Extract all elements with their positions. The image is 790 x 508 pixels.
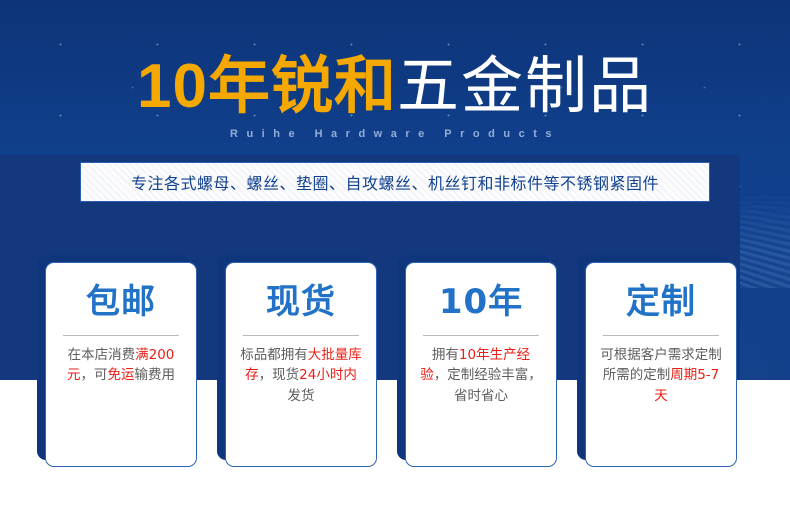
feature-card[interactable]: 包邮在本店消费满200元，可免运输费用 [45, 262, 197, 467]
card-description-text: 在本店消费 [68, 347, 136, 363]
card-description: 拥有10年生产经验，定制经验丰富，省时省心 [419, 345, 543, 407]
tagline-text: 专注各式螺母、螺丝、垫圈、自攻螺丝、机丝钉和非标件等不锈钢紧固件 [131, 170, 659, 194]
headline-gold-text: 10年锐和 [137, 52, 397, 121]
card-description: 可根据客户需求定制所需的定制周期5-7天 [599, 345, 723, 407]
feature-card[interactable]: 现货标品都拥有大批量库存，现货24小时内发货 [225, 262, 377, 467]
card-description-text: 输费用 [135, 367, 176, 383]
card-description-highlight: 24小时内 [299, 367, 357, 383]
feature-card[interactable]: 10年拥有10年生产经验，定制经验丰富，省时省心 [405, 262, 557, 467]
card-description: 在本店消费满200元，可免运输费用 [59, 345, 183, 386]
card-divider [603, 335, 719, 336]
headline-subtitle: Ruihe Hardware Products [0, 128, 790, 140]
card-divider [243, 335, 359, 336]
promo-banner: 10年锐和五金制品 Ruihe Hardware Products 专注各式螺母… [0, 0, 790, 508]
tagline-banner: 专注各式螺母、螺丝、垫圈、自攻螺丝、机丝钉和非标件等不锈钢紧固件 [80, 162, 710, 202]
card-description-text: ，现货 [259, 367, 300, 383]
card-description-text: 发货 [288, 388, 315, 404]
card-body-panel: 包邮在本店消费满200元，可免运输费用 [45, 262, 197, 467]
card-body-panel: 定制可根据客户需求定制所需的定制周期5-7天 [585, 262, 737, 467]
card-title: 定制 [626, 285, 696, 321]
card-divider [423, 335, 539, 336]
card-title: 包邮 [86, 285, 156, 321]
card-description-highlight: 免运 [108, 367, 135, 383]
card-title: 现货 [266, 285, 336, 321]
card-description-text: ，可 [81, 367, 108, 383]
card-description-text: 拥有 [432, 347, 459, 363]
card-description-text: ，定制经验丰富，省时省心 [434, 367, 542, 404]
card-divider [63, 335, 179, 336]
card-body-panel: 10年拥有10年生产经验，定制经验丰富，省时省心 [405, 262, 557, 467]
card-description-text: 标品都拥有 [240, 347, 308, 363]
card-description: 标品都拥有大批量库存，现货24小时内发货 [239, 345, 363, 407]
card-body-panel: 现货标品都拥有大批量库存，现货24小时内发货 [225, 262, 377, 467]
page-title: 10年锐和五金制品 [0, 56, 790, 118]
card-title: 10年 [439, 285, 523, 321]
feature-card[interactable]: 定制可根据客户需求定制所需的定制周期5-7天 [585, 262, 737, 467]
headline-white-text: 五金制品 [397, 52, 653, 121]
